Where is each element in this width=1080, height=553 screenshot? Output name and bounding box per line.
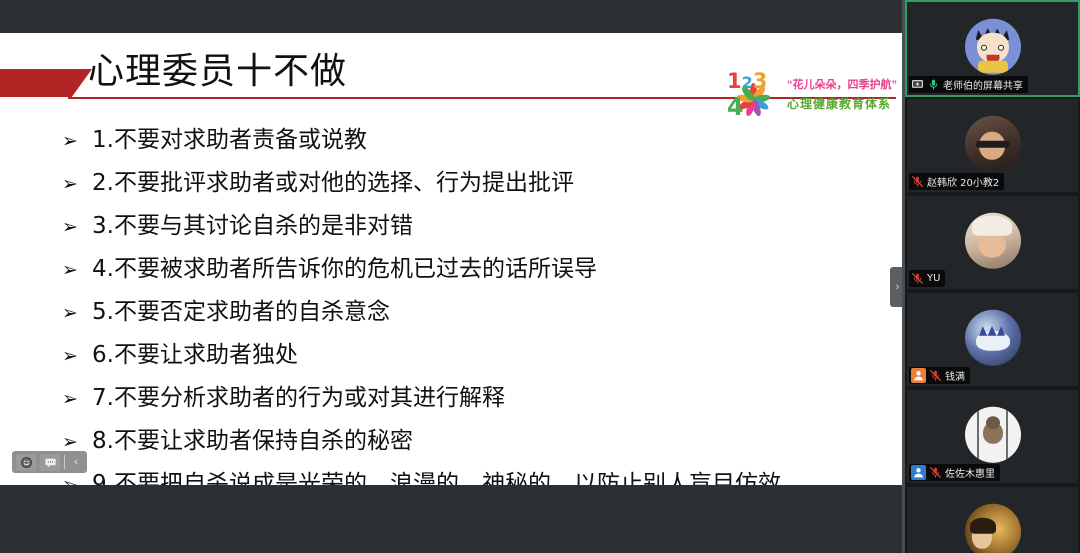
participant-label: YU	[909, 270, 945, 287]
microphone-unmuted-icon	[927, 78, 940, 91]
participant-label: 赵韩欣 20小教2	[909, 173, 1004, 190]
list-item-text: 7.不要分析求助者的行为或对其进行解释	[92, 379, 505, 417]
portrait-photo-avatar	[965, 503, 1021, 553]
participant-name: 佐佐木惠里	[945, 465, 995, 480]
list-item: ➢ 1.不要对求助者责备或说教	[62, 121, 882, 159]
arrow-bullet-icon: ➢	[62, 122, 92, 160]
presentation-slide: 心理委员十不做 1234	[0, 33, 905, 519]
list-item-text: 6.不要让求助者独处	[92, 336, 298, 374]
participant-tile[interactable]	[905, 485, 1080, 553]
participant-name: 钱满	[945, 368, 965, 383]
title-accent-shape	[0, 69, 92, 97]
brand-logo: 1234 “花儿朵朵，四季护航” 心理健康教育体系	[726, 69, 897, 119]
logo-numeral-3: 3	[753, 69, 768, 93]
microphone-muted-icon	[911, 272, 924, 285]
participant-name: 老师伯的屏幕共享	[943, 77, 1023, 92]
slide-floating-toolbar[interactable]: ‹	[12, 451, 87, 473]
chevron-left-icon[interactable]: ‹	[69, 454, 83, 471]
emoji-icon[interactable]	[16, 454, 36, 471]
screen-share-icon	[911, 78, 924, 91]
logo-numeral-2: 2	[742, 73, 753, 92]
list-item: ➢ 6.不要让求助者独处	[62, 336, 882, 374]
arrow-bullet-icon: ➢	[62, 251, 92, 289]
list-item-text: 3.不要与其讨论自杀的是非对错	[92, 207, 413, 245]
microphone-muted-icon	[911, 175, 924, 188]
arrow-bullet-icon: ➢	[62, 337, 92, 375]
participant-label: 钱满	[909, 367, 970, 384]
participant-tile[interactable]: 钱满	[905, 291, 1080, 388]
woman-glasses-photo-avatar	[965, 115, 1021, 171]
microphone-muted-icon	[929, 466, 942, 479]
guest-badge-icon	[911, 465, 926, 480]
logo-numerals: 1234	[727, 69, 782, 121]
list-item: ➢ 2.不要批评求助者或对他的选择、行为提出批评	[62, 164, 882, 202]
logo-tagline: “花儿朵朵，四季护航”	[787, 76, 897, 92]
arrow-bullet-icon: ➢	[62, 165, 92, 203]
list-item: ➢ 7.不要分析求助者的行为或对其进行解释	[62, 379, 882, 417]
logo-subtitle: 心理健康教育体系	[787, 95, 897, 112]
list-item: ➢ 4.不要被求助者所告诉你的危机已过去的话所误导	[62, 250, 882, 288]
bird-photo-avatar	[965, 406, 1021, 462]
page-title: 心理委员十不做	[88, 47, 347, 97]
participant-tile[interactable]: 佐佐木惠里	[905, 388, 1080, 485]
list-item-text: 4.不要被求助者所告诉你的危机已过去的话所误导	[92, 250, 597, 288]
shared-screen-region: 心理委员十不做 1234	[0, 0, 905, 553]
list-item-text: 8.不要让求助者保持自杀的秘密	[92, 422, 413, 460]
person-hat-photo-avatar	[965, 212, 1021, 268]
flower-logo-icon: 1234	[726, 69, 782, 119]
slide-letterbox-strip	[0, 485, 905, 519]
list-item: ➢ 5.不要否定求助者的自杀意念	[62, 293, 882, 331]
participant-label: 佐佐木惠里	[909, 464, 1000, 481]
participant-tile[interactable]: 赵韩欣 20小教2	[905, 97, 1080, 194]
arrow-bullet-icon: ➢	[62, 294, 92, 332]
list-item-text: 2.不要批评求助者或对他的选择、行为提出批评	[92, 164, 574, 202]
meeting-screen-share-view: 心理委员十不做 1234	[0, 0, 1080, 553]
participant-tile[interactable]: 老师伯的屏幕共享	[905, 0, 1080, 97]
participant-tile[interactable]: YU	[905, 194, 1080, 291]
list-item-text: 1.不要对求助者责备或说教	[92, 121, 367, 159]
logo-text-block: “花儿朵朵，四季护航” 心理健康教育体系	[787, 76, 897, 112]
participant-filmstrip[interactable]: 老师伯的屏幕共享 赵韩欣 20小教2	[905, 0, 1080, 553]
slide-title-zone: 心理委员十不做 1234	[0, 33, 905, 101]
game-character-avatar	[965, 309, 1021, 365]
participant-name: YU	[927, 273, 940, 284]
list-item-text: 5.不要否定求助者的自杀意念	[92, 293, 390, 331]
participant-name: 赵韩欣 20小教2	[927, 174, 999, 189]
microphone-muted-icon	[929, 369, 942, 382]
list-item: ➢ 8.不要让求助者保持自杀的秘密	[62, 422, 882, 460]
cartoon-boy-avatar	[965, 18, 1021, 74]
host-badge-icon	[911, 368, 926, 383]
arrow-bullet-icon: ➢	[62, 208, 92, 246]
toolbar-divider	[64, 455, 65, 469]
slide-bullet-list: ➢ 1.不要对求助者责备或说教 ➢ 2.不要批评求助者或对他的选择、行为提出批评…	[62, 121, 882, 519]
arrow-bullet-icon: ➢	[62, 380, 92, 418]
participant-label: 老师伯的屏幕共享	[909, 76, 1028, 93]
list-item: ➢ 3.不要与其讨论自杀的是非对错	[62, 207, 882, 245]
logo-numeral-1: 1	[727, 69, 742, 93]
chat-icon[interactable]	[40, 454, 60, 471]
logo-numeral-4: 4	[727, 93, 744, 121]
